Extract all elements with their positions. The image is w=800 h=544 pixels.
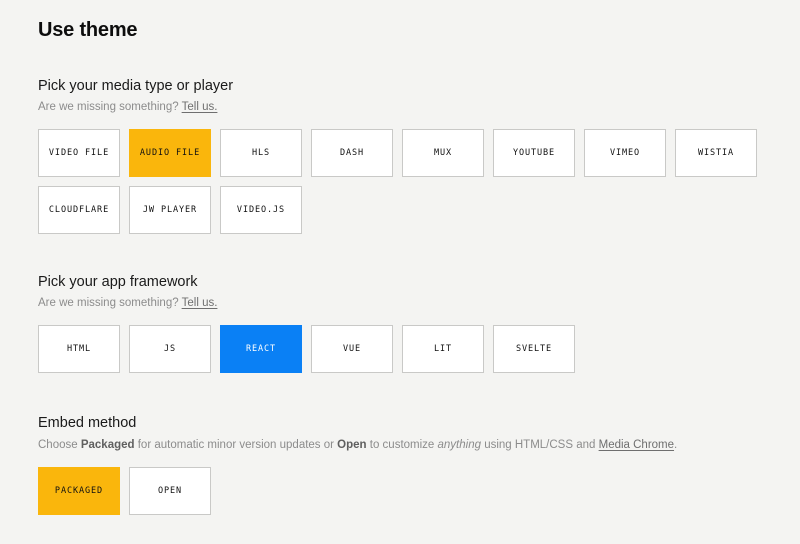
media-option-dash[interactable]: DASH: [311, 129, 393, 177]
app-framework-tell-us-link[interactable]: Tell us.: [182, 297, 218, 309]
media-option-audio-file[interactable]: AUDIO FILE: [129, 129, 211, 177]
framework-option-html[interactable]: HTML: [38, 325, 120, 373]
framework-option-lit[interactable]: LIT: [402, 325, 484, 373]
embed-desc-bold-packaged: Packaged: [81, 439, 135, 451]
media-type-subtitle: Are we missing something? Tell us.: [38, 99, 762, 115]
embed-method-description: Choose Packaged for automatic minor vers…: [38, 437, 762, 453]
embed-option-open[interactable]: OPEN: [129, 467, 211, 515]
media-option-jw-player[interactable]: JW PLAYER: [129, 186, 211, 234]
app-framework-subtitle-text: Are we missing something?: [38, 297, 179, 309]
app-framework-subtitle: Are we missing something? Tell us.: [38, 295, 762, 311]
media-option-cloudflare[interactable]: CLOUDFLARE: [38, 186, 120, 234]
media-option-wistia[interactable]: WISTIA: [675, 129, 757, 177]
media-type-options: VIDEO FILEAUDIO FILEHLSDASHMUXYOUTUBEVIM…: [38, 129, 762, 234]
app-framework-section: Pick your app framework Are we missing s…: [38, 272, 762, 373]
theme-settings-page: Use theme Pick your media type or player…: [0, 0, 800, 544]
media-option-video-file[interactable]: VIDEO FILE: [38, 129, 120, 177]
media-type-tell-us-link[interactable]: Tell us.: [182, 101, 218, 113]
embed-desc-part-2: for automatic minor version updates or: [135, 439, 338, 451]
embed-desc-part-1: Choose: [38, 439, 81, 451]
media-option-video-js[interactable]: VIDEO.JS: [220, 186, 302, 234]
framework-option-svelte[interactable]: SVELTE: [493, 325, 575, 373]
media-type-section: Pick your media type or player Are we mi…: [38, 76, 762, 234]
app-framework-heading: Pick your app framework: [38, 272, 762, 292]
embed-desc-part-4: using HTML/CSS and: [481, 439, 599, 451]
embed-method-options: PACKAGEDOPEN: [38, 467, 762, 515]
page-title: Use theme: [38, 16, 762, 44]
media-option-hls[interactable]: HLS: [220, 129, 302, 177]
media-option-youtube[interactable]: YOUTUBE: [493, 129, 575, 177]
media-option-mux[interactable]: MUX: [402, 129, 484, 177]
framework-option-react[interactable]: REACT: [220, 325, 302, 373]
media-chrome-link[interactable]: Media Chrome: [599, 439, 674, 451]
framework-option-vue[interactable]: VUE: [311, 325, 393, 373]
embed-desc-bold-open: Open: [337, 439, 366, 451]
embed-method-section: Embed method Choose Packaged for automat…: [38, 413, 762, 515]
embed-option-packaged[interactable]: PACKAGED: [38, 467, 120, 515]
media-type-heading: Pick your media type or player: [38, 76, 762, 96]
framework-option-js[interactable]: JS: [129, 325, 211, 373]
embed-desc-part-5: .: [674, 439, 677, 451]
embed-desc-italic-anything: anything: [438, 439, 481, 451]
embed-method-heading: Embed method: [38, 413, 762, 433]
embed-desc-part-3: to customize: [367, 439, 438, 451]
app-framework-options: HTMLJSREACTVUELITSVELTE: [38, 325, 762, 373]
media-type-subtitle-text: Are we missing something?: [38, 101, 179, 113]
media-option-vimeo[interactable]: VIMEO: [584, 129, 666, 177]
